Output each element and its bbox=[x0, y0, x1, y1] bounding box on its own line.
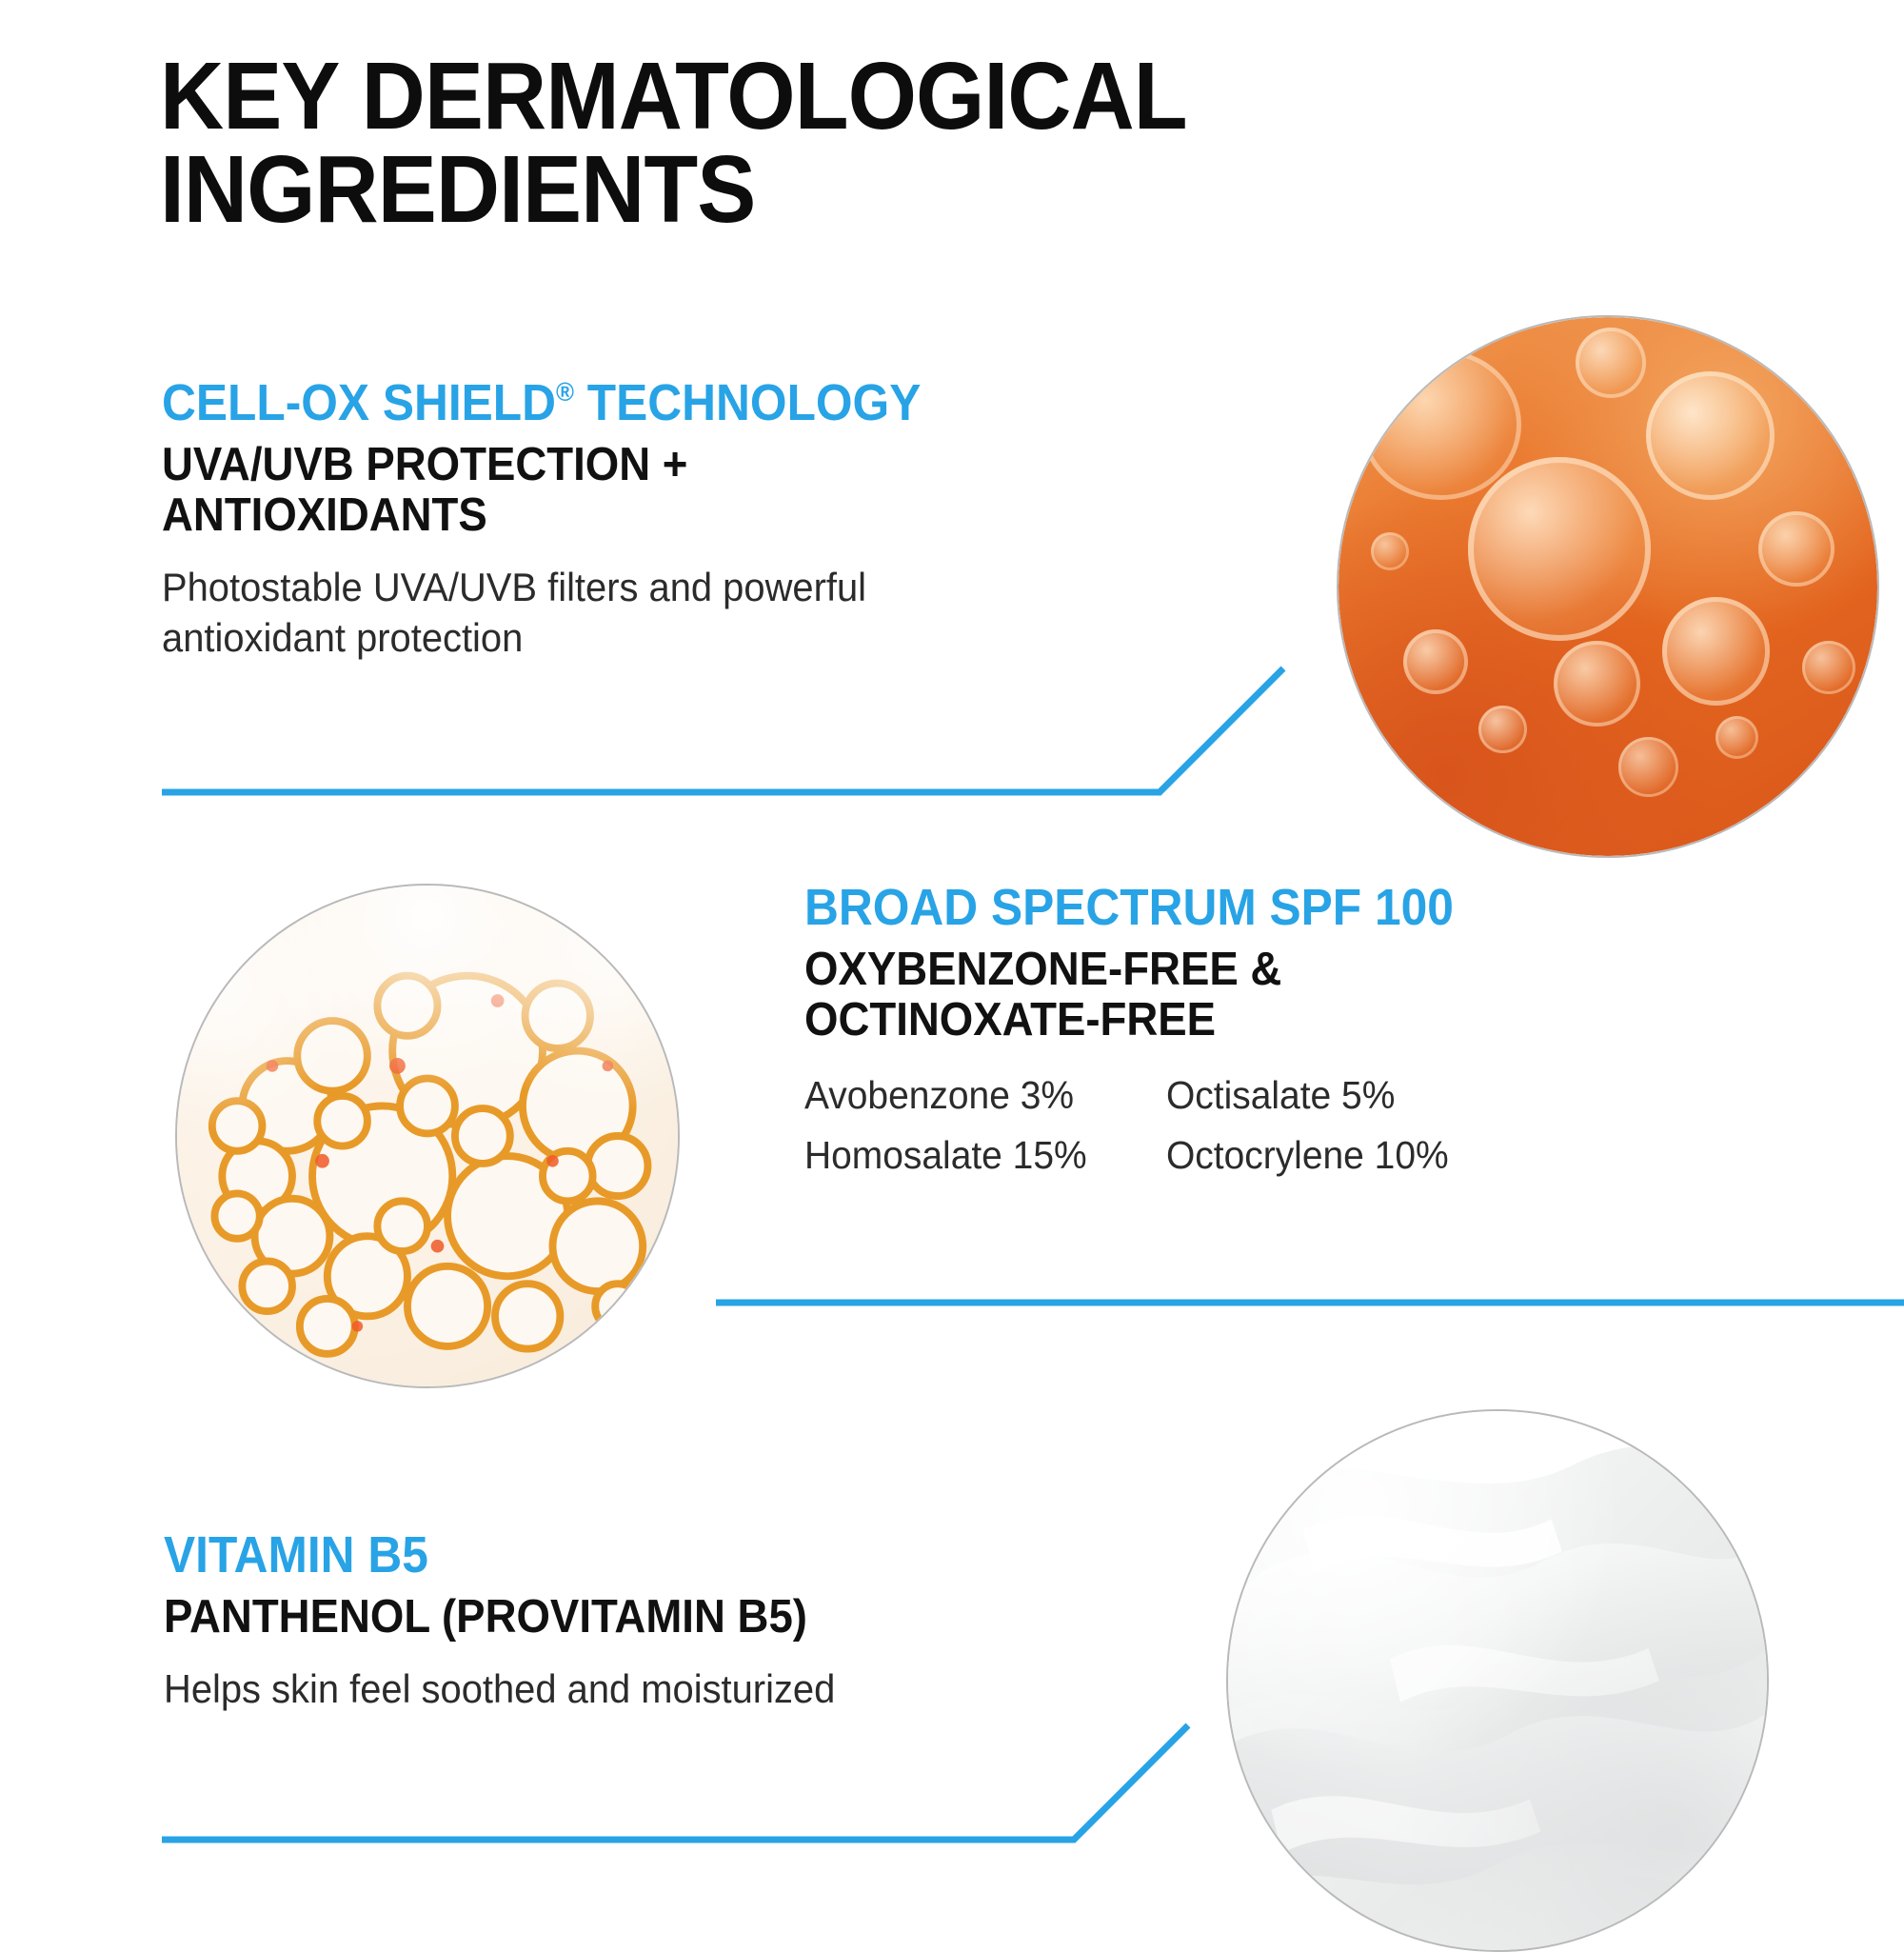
image-white-cream-texture-macro bbox=[1226, 1409, 1769, 1952]
cream-texture bbox=[1228, 1411, 1767, 1950]
infographic-page: KEY DERMATOLOGICAL INGREDIENTS CELL-OX S… bbox=[0, 0, 1904, 1904]
